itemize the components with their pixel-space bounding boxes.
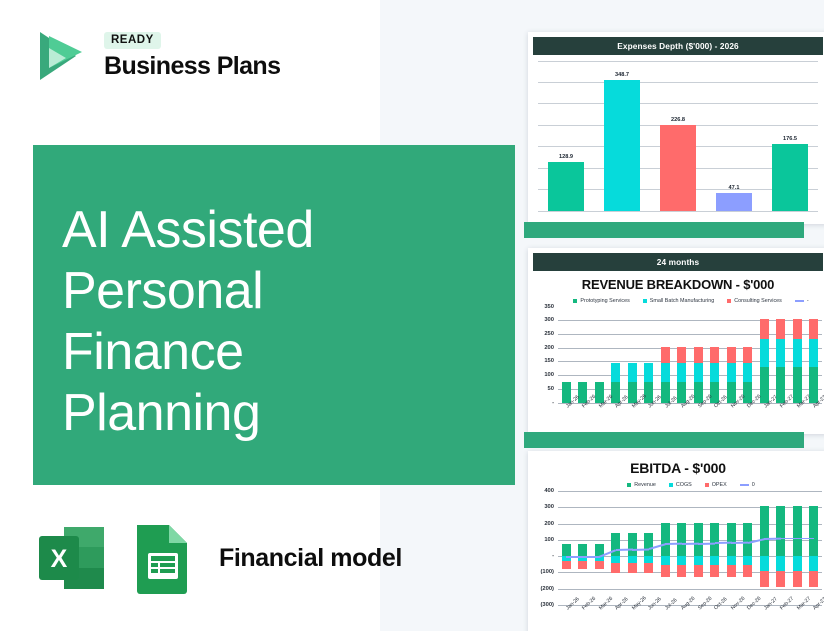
trend-line-segment: [566, 556, 583, 558]
gridline: [538, 211, 818, 212]
stacked-bar[interactable]: [727, 347, 736, 403]
y-tick-label: 200: [544, 345, 554, 351]
svg-text:X: X: [51, 545, 68, 573]
x-axis: Jan-26Feb-26Mar-26Apr-26May-26Jun-26Jul-…: [558, 403, 822, 435]
bar-segment-revenue[interactable]: [760, 506, 769, 556]
trend-line-segment: [583, 556, 600, 558]
bar-segment-opex[interactable]: [578, 561, 587, 569]
legend-item: COGS: [669, 482, 692, 488]
play-triangle-logo-icon: [30, 26, 90, 86]
stacked-bar[interactable]: [677, 347, 686, 403]
bar-segment-opex[interactable]: [595, 561, 604, 569]
bar-segment: [677, 347, 686, 363]
chart-card-expenses[interactable]: Expenses Depth ($'000) - 2026 128.9348.7…: [528, 32, 824, 224]
bar-segment: [644, 363, 653, 382]
bar-segment-cogs[interactable]: [793, 556, 802, 571]
y-tick-label: 150: [544, 358, 554, 364]
legend-item: Small Batch Manufacturing: [643, 298, 714, 304]
bar-segment-cogs[interactable]: [710, 556, 719, 565]
chart-2-legend: Prototyping ServicesSmall Batch Manufact…: [528, 298, 824, 304]
trend-line-segment: [764, 538, 781, 540]
bar-segment-cogs[interactable]: [661, 556, 670, 565]
bar-segment: [793, 319, 802, 339]
bar-segment-revenue[interactable]: [628, 533, 637, 557]
bar-segment: [727, 347, 736, 363]
title-line-2: Personal: [62, 261, 482, 322]
bar-segment: [809, 319, 818, 339]
legend-label: COGS: [676, 482, 692, 488]
legend-label: Consulting Services: [734, 298, 782, 304]
bar-segment: [694, 363, 703, 382]
legend-swatch: [627, 483, 631, 487]
legend-item: 0: [740, 482, 755, 488]
trend-line-segment: [698, 542, 715, 544]
legend-label: Revenue: [634, 482, 656, 488]
bar-value-label: 348.7: [615, 72, 629, 78]
bar-segment-revenue[interactable]: [809, 506, 818, 556]
bar-segment-opex[interactable]: [644, 563, 653, 572]
bar[interactable]: [660, 125, 697, 210]
bar-segment-cogs[interactable]: [776, 556, 785, 571]
x-axis: Jan-26Feb-26Mar-26Apr-26May-26Jun-26Jul-…: [558, 605, 822, 631]
bar-value-label: 128.9: [559, 154, 573, 160]
legend-swatch: [727, 299, 731, 303]
gridline: [538, 61, 818, 62]
gridline: [538, 82, 818, 83]
plot-area: [558, 491, 822, 605]
title-line-4: Planning: [62, 383, 482, 444]
legend-item: -: [795, 298, 809, 304]
y-tick-label: 250: [544, 331, 554, 337]
legend-label: 0: [752, 482, 755, 488]
bar-segment-revenue[interactable]: [677, 523, 686, 556]
bar-segment-opex[interactable]: [743, 565, 752, 577]
legend-swatch: [643, 299, 647, 303]
bar-segment-opex[interactable]: [710, 565, 719, 577]
bar-segment-revenue[interactable]: [743, 523, 752, 556]
google-sheets-icon: [129, 519, 197, 597]
brand-logo: READY Business Plans: [30, 26, 280, 86]
chart-3-title: EBITDA - $'000: [528, 460, 824, 476]
stacked-bar[interactable]: [793, 319, 802, 403]
chart-2-title: REVENUE BREAKDOWN - $'000: [528, 277, 824, 292]
slide-canvas: READY Business Plans AI Assisted Persona…: [0, 0, 824, 631]
stacked-bar[interactable]: [694, 347, 703, 403]
y-tick-label: 50: [548, 386, 554, 392]
bar-segment: [760, 319, 769, 339]
bar-segment-revenue[interactable]: [644, 533, 653, 557]
legend-item: Prototyping Services: [573, 298, 629, 304]
bar[interactable]: [604, 80, 641, 211]
y-tick-label: 350: [544, 304, 554, 310]
stacked-bar[interactable]: [710, 347, 719, 403]
bar-segment-cogs[interactable]: [628, 556, 637, 563]
bar-segment-cogs[interactable]: [644, 556, 653, 563]
bar-segment-revenue[interactable]: [776, 506, 785, 556]
bar-segment-revenue[interactable]: [710, 523, 719, 556]
bar-segment-revenue[interactable]: [562, 544, 571, 556]
bar-segment: [727, 363, 736, 382]
bar[interactable]: [772, 144, 809, 210]
legend-item: Revenue: [627, 482, 656, 488]
bar-segment: [776, 339, 785, 368]
bar-segment-cogs[interactable]: [727, 556, 736, 565]
bar-segment: [760, 339, 769, 368]
legend-swatch: [573, 299, 577, 303]
bar-segment-revenue[interactable]: [727, 523, 736, 556]
y-tick-label: 100: [544, 372, 554, 378]
y-axis: 35030025020015010050-: [532, 307, 556, 403]
chart-card-revenue[interactable]: 24 months REVENUE BREAKDOWN - $'000 Prot…: [528, 248, 824, 434]
accent-strip-3: [524, 432, 804, 448]
chart-1-title: Expenses Depth ($'000) - 2026: [533, 37, 823, 55]
legend-label: Prototyping Services: [580, 298, 629, 304]
legend-label: -: [807, 298, 809, 304]
gridline: [538, 103, 818, 104]
legend-swatch: [669, 483, 673, 487]
legend-label: Small Batch Manufacturing: [650, 298, 714, 304]
accent-strip-2: [524, 222, 804, 238]
plot-area: [558, 307, 822, 403]
bar-segment-cogs[interactable]: [809, 556, 818, 571]
title-line-1: AI Assisted: [62, 200, 482, 261]
chart-3-plot: 400300200100-(100)(200)(300)Jan-26Feb-26…: [532, 491, 824, 605]
bar-segment: [661, 363, 670, 382]
trend-line-segment: [797, 538, 814, 540]
legend-label: OPEX: [712, 482, 727, 488]
bar-segment-opex[interactable]: [677, 565, 686, 577]
chart-2-plot: 35030025020015010050-Jan-26Feb-26Mar-26A…: [532, 307, 824, 403]
bar-segment: [677, 363, 686, 382]
bar-segment-revenue[interactable]: [694, 523, 703, 556]
bar-segment-opex[interactable]: [661, 565, 670, 577]
y-tick-label: -: [552, 553, 554, 559]
bar-segment: [694, 347, 703, 363]
bar-segment: [710, 363, 719, 382]
bar-segment-opex[interactable]: [694, 565, 703, 577]
bar-segment: [628, 363, 637, 382]
stacked-bar[interactable]: [809, 319, 818, 403]
bar[interactable]: [716, 193, 753, 211]
legend-swatch: [795, 300, 804, 302]
bar-segment: [743, 347, 752, 363]
y-tick-label: (300): [540, 602, 554, 608]
bar-value-label: 47.1: [729, 185, 740, 191]
bar-value-label: 226.8: [671, 117, 685, 123]
y-tick-label: (200): [540, 586, 554, 592]
bar-segment-cogs[interactable]: [743, 556, 752, 565]
stacked-bar[interactable]: [776, 319, 785, 403]
bar-segment-cogs[interactable]: [760, 556, 769, 571]
stacked-bar[interactable]: [661, 347, 670, 403]
y-tick-label: 100: [544, 537, 554, 543]
bar-value-label: 176.5: [783, 136, 797, 142]
bar-segment: [611, 363, 620, 382]
bar-segment: [809, 339, 818, 368]
bar-segment: [661, 347, 670, 363]
y-tick-label: 400: [544, 488, 554, 494]
y-tick-label: 200: [544, 521, 554, 527]
format-row: X Financial model: [33, 519, 402, 597]
bar-segment-cogs[interactable]: [611, 556, 620, 563]
y-tick-label: (100): [540, 569, 554, 575]
bar-segment: [793, 339, 802, 368]
legend-item: OPEX: [705, 482, 727, 488]
stacked-bar[interactable]: [743, 347, 752, 403]
bar-segment-opex[interactable]: [628, 563, 637, 572]
microsoft-excel-icon: X: [33, 519, 111, 597]
bar-segment-opex[interactable]: [760, 571, 769, 587]
trend-line-segment: [781, 538, 798, 540]
chart-1-plot: 128.9348.7226.847.1176.5: [538, 61, 818, 211]
page-title: AI Assisted Personal Finance Planning: [62, 200, 482, 444]
bar-segment: [710, 347, 719, 363]
bar-segment-cogs[interactable]: [677, 556, 686, 565]
legend-swatch: [705, 483, 709, 487]
bar-segment-opex[interactable]: [727, 565, 736, 577]
bar-segment-opex[interactable]: [776, 571, 785, 587]
gridline: [558, 589, 822, 590]
bar-segment-cogs[interactable]: [694, 556, 703, 565]
bar[interactable]: [548, 162, 585, 210]
bar-segment-opex[interactable]: [793, 571, 802, 587]
legend-swatch: [740, 484, 749, 486]
stacked-bar[interactable]: [760, 319, 769, 403]
chart-card-ebitda[interactable]: EBITDA - $'000 RevenueCOGSOPEX0 40030020…: [528, 451, 824, 631]
bar-segment-opex[interactable]: [809, 571, 818, 587]
legend-item: Consulting Services: [727, 298, 782, 304]
stacked-bar[interactable]: [628, 363, 637, 403]
bar-segment-revenue[interactable]: [661, 523, 670, 556]
bar-segment: [743, 363, 752, 382]
bar-segment-revenue[interactable]: [611, 533, 620, 557]
chart-2-header: 24 months: [533, 253, 823, 271]
gridline: [558, 491, 822, 492]
trend-line-segment: [632, 548, 649, 550]
bar-segment-opex[interactable]: [611, 563, 620, 572]
y-tick-label: 300: [544, 504, 554, 510]
y-tick-label: -: [552, 400, 554, 406]
brand-name: Business Plans: [104, 52, 280, 81]
title-line-3: Finance: [62, 322, 482, 383]
bar-segment-revenue[interactable]: [578, 544, 587, 556]
bar-segment-opex[interactable]: [562, 561, 571, 569]
bar-segment-revenue[interactable]: [793, 506, 802, 556]
y-axis: 400300200100-(100)(200)(300): [532, 491, 556, 605]
bar-segment: [776, 319, 785, 339]
y-tick-label: 300: [544, 317, 554, 323]
ready-badge: READY: [104, 32, 161, 49]
format-label: Financial model: [219, 544, 402, 573]
chart-3-legend: RevenueCOGSOPEX0: [528, 482, 824, 488]
